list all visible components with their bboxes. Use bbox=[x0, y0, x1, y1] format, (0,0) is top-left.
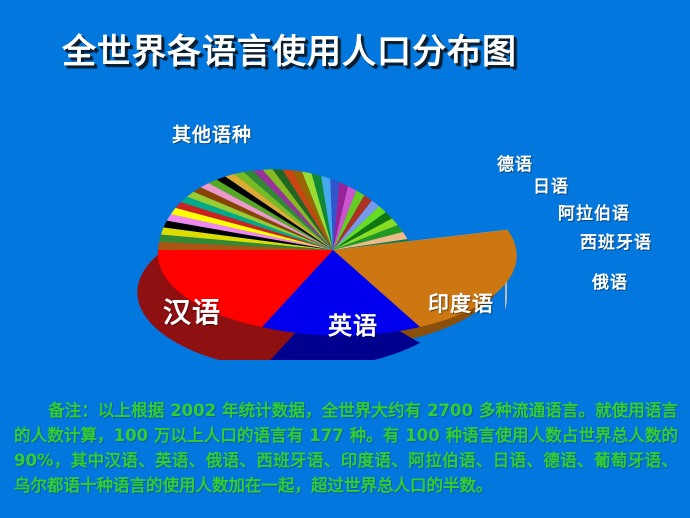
footnote-body: 备注：以上根据 2002 年统计数据，全世界大约有 2700 多种流通语言。就使… bbox=[14, 401, 678, 495]
slide-canvas: 全世界各语言使用人口分布图 bbox=[0, 0, 690, 518]
label-japanese: 日语 bbox=[533, 172, 569, 197]
label-hindi: 印度语 bbox=[428, 288, 494, 318]
label-spanish: 西班牙语 bbox=[580, 228, 652, 253]
label-other-languages: 其他语种 bbox=[172, 120, 252, 147]
page-title: 全世界各语言使用人口分布图 bbox=[62, 34, 517, 71]
label-arabic: 阿拉伯语 bbox=[558, 199, 630, 224]
label-german: 德语 bbox=[497, 150, 533, 175]
label-english: 英语 bbox=[328, 306, 378, 341]
label-russian: 俄语 bbox=[592, 268, 628, 293]
footnote-text: 备注：以上根据 2002 年统计数据，全世界大约有 2700 多种流通语言。就使… bbox=[14, 398, 678, 498]
label-chinese: 汉语 bbox=[163, 291, 221, 331]
